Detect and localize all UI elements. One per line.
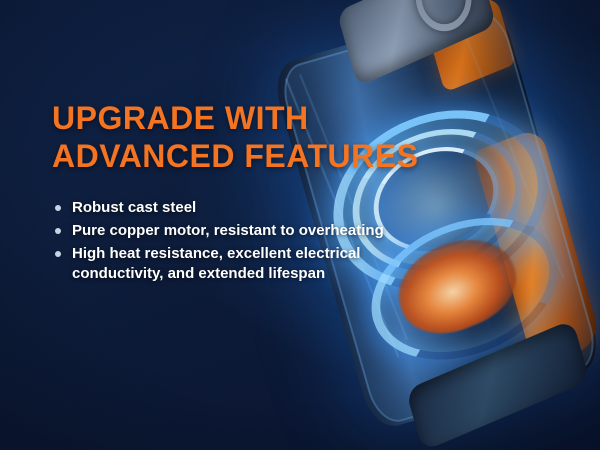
banner-text-block: Upgrade With Advanced Features Robust ca… [52,100,452,288]
headline: Upgrade With Advanced Features [52,100,422,176]
list-item: Pure copper motor, resistant to overheat… [52,221,422,241]
list-item: High heat resistance, excellent electric… [52,244,422,285]
list-item: Robust cast steel [52,198,422,218]
promo-banner: Upgrade With Advanced Features Robust ca… [0,0,600,450]
feature-list: Robust cast steel Pure copper motor, res… [52,198,452,285]
